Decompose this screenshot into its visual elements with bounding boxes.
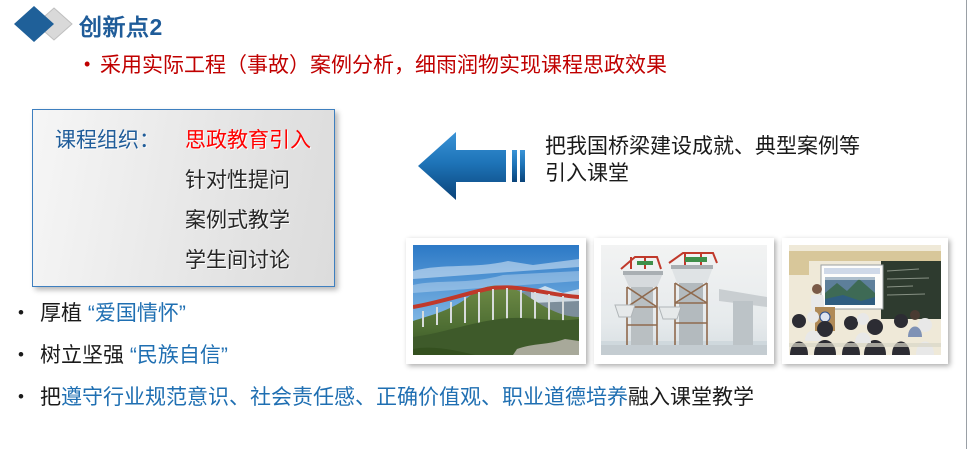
bullet-text-plain: 树立坚强: [40, 344, 124, 367]
course-organization-item-list: 思政教育引入 针对性提问 案例式教学 学生间讨论: [185, 124, 311, 274]
page-title: 创新点2: [79, 8, 163, 42]
bullet-text-plain-tail: 融入课堂教学: [628, 386, 754, 409]
list-item: 针对性提问: [185, 164, 311, 194]
note-line-1: 把我国桥梁建设成就、典型案例等: [545, 133, 955, 160]
bullet-text-accent: 遵守行业规范意识、社会责任感、正确价值观、职业道德培养: [61, 386, 628, 409]
slide-canvas: 创新点2 •采用实际工程（事故）案例分析，细雨润物实现课程思政效果 课程组织： …: [0, 0, 967, 449]
course-organization-grid: 课程组织： 思政教育引入 针对性提问 案例式教学 学生间讨论: [33, 110, 334, 286]
bullet-marker: •: [18, 388, 40, 405]
list-item: 学生间讨论: [185, 244, 311, 274]
double-diamond-icon: [10, 4, 78, 44]
slide-header: 创新点2: [0, 0, 966, 48]
bullet-text-plain: 把: [40, 386, 61, 409]
note-text: 把我国桥梁建设成就、典型案例等 引入课堂: [545, 133, 955, 188]
list-item: 案例式教学: [185, 204, 311, 234]
bullet-marker: •: [18, 346, 40, 363]
left-arrow-icon: [418, 128, 536, 206]
red-highlight-bullet: •采用实际工程（事故）案例分析，细雨润物实现课程思政效果: [84, 49, 667, 79]
red-bullet-text: 采用实际工程（事故）案例分析，细雨润物实现课程思政效果: [100, 54, 667, 77]
bullet-text-plain: 厚植: [40, 302, 82, 325]
bullet-marker: •: [84, 54, 100, 75]
note-line-2: 引入课堂: [545, 160, 955, 187]
list-item: •厚植 “爱国情怀”: [18, 303, 958, 324]
list-item: •树立坚强 “民族自信”: [18, 345, 958, 366]
course-organization-label: 课程组织：: [55, 124, 160, 154]
course-organization-box: 课程组织： 思政教育引入 针对性提问 案例式教学 学生间讨论: [32, 109, 335, 287]
bullet-text-accent: “爱国情怀”: [82, 302, 186, 325]
list-item: 思政教育引入: [185, 124, 311, 154]
bottom-bullet-list: •厚植 “爱国情怀” •树立坚强 “民族自信” •把遵守行业规范意识、社会责任感…: [18, 303, 958, 408]
bullet-text-accent: “民族自信”: [124, 344, 228, 367]
bullet-marker: •: [18, 304, 40, 321]
list-item: •把遵守行业规范意识、社会责任感、正确价值观、职业道德培养融入课堂教学: [18, 387, 958, 408]
